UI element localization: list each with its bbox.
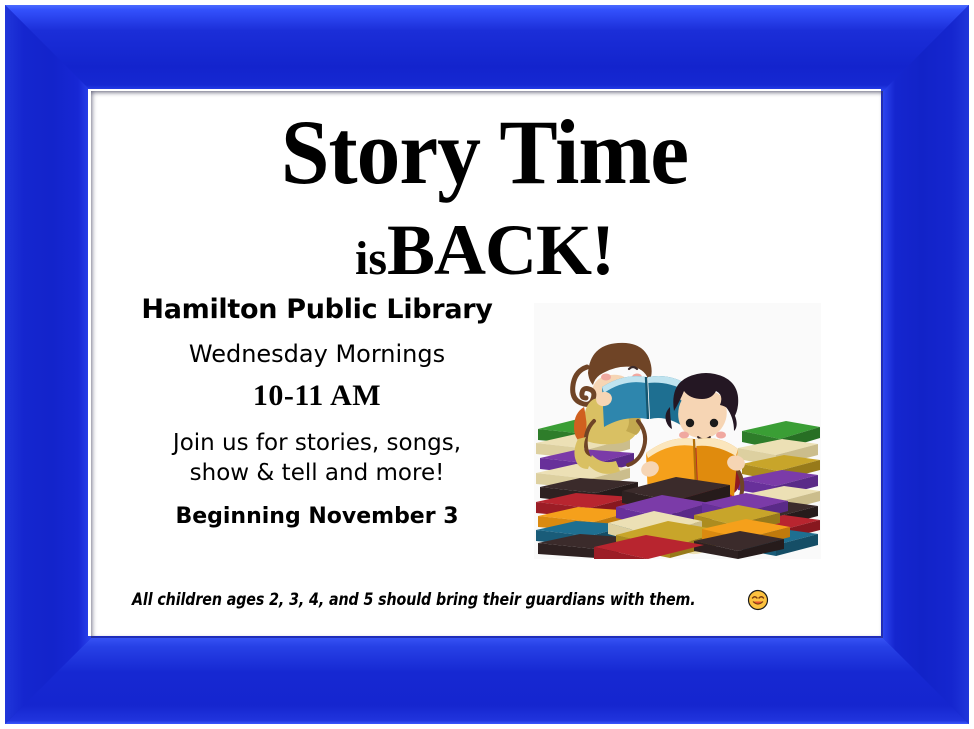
event-day: Wednesday Mornings <box>102 341 532 367</box>
children-reading-illustration <box>534 303 821 559</box>
event-details: Hamilton Public Library Wednesday Mornin… <box>102 295 532 529</box>
page-subtitle: isBACK! <box>88 214 881 286</box>
subtitle-back: BACK! <box>387 210 614 290</box>
frame-rail-top <box>5 5 969 91</box>
event-activities-line2: show & tell and more! <box>102 458 532 488</box>
event-activities: Join us for stories, songs, show & tell … <box>102 428 532 489</box>
frame-rail-left <box>5 5 91 724</box>
event-start-date: Beginning November 3 <box>102 505 532 529</box>
event-time: 10-11 AM <box>102 379 532 412</box>
smiling-face-emoji <box>747 589 769 611</box>
event-activities-line1: Join us for stories, songs, <box>102 428 532 458</box>
frame-rail-right <box>883 5 969 724</box>
library-name: Hamilton Public Library <box>102 295 532 325</box>
guardian-note: All children ages 2, 3, 4, and 5 should … <box>132 589 862 611</box>
story-time-poster: Story Time isBACK! Hamilton Public Libra… <box>0 0 974 729</box>
guardian-note-text: All children ages 2, 3, 4, and 5 should … <box>132 590 696 610</box>
poster-paper: Story Time isBACK! Hamilton Public Libra… <box>88 89 881 636</box>
frame-rail-bottom <box>5 638 969 724</box>
page-title: Story Time <box>108 106 861 198</box>
subtitle-is: is <box>355 232 387 285</box>
